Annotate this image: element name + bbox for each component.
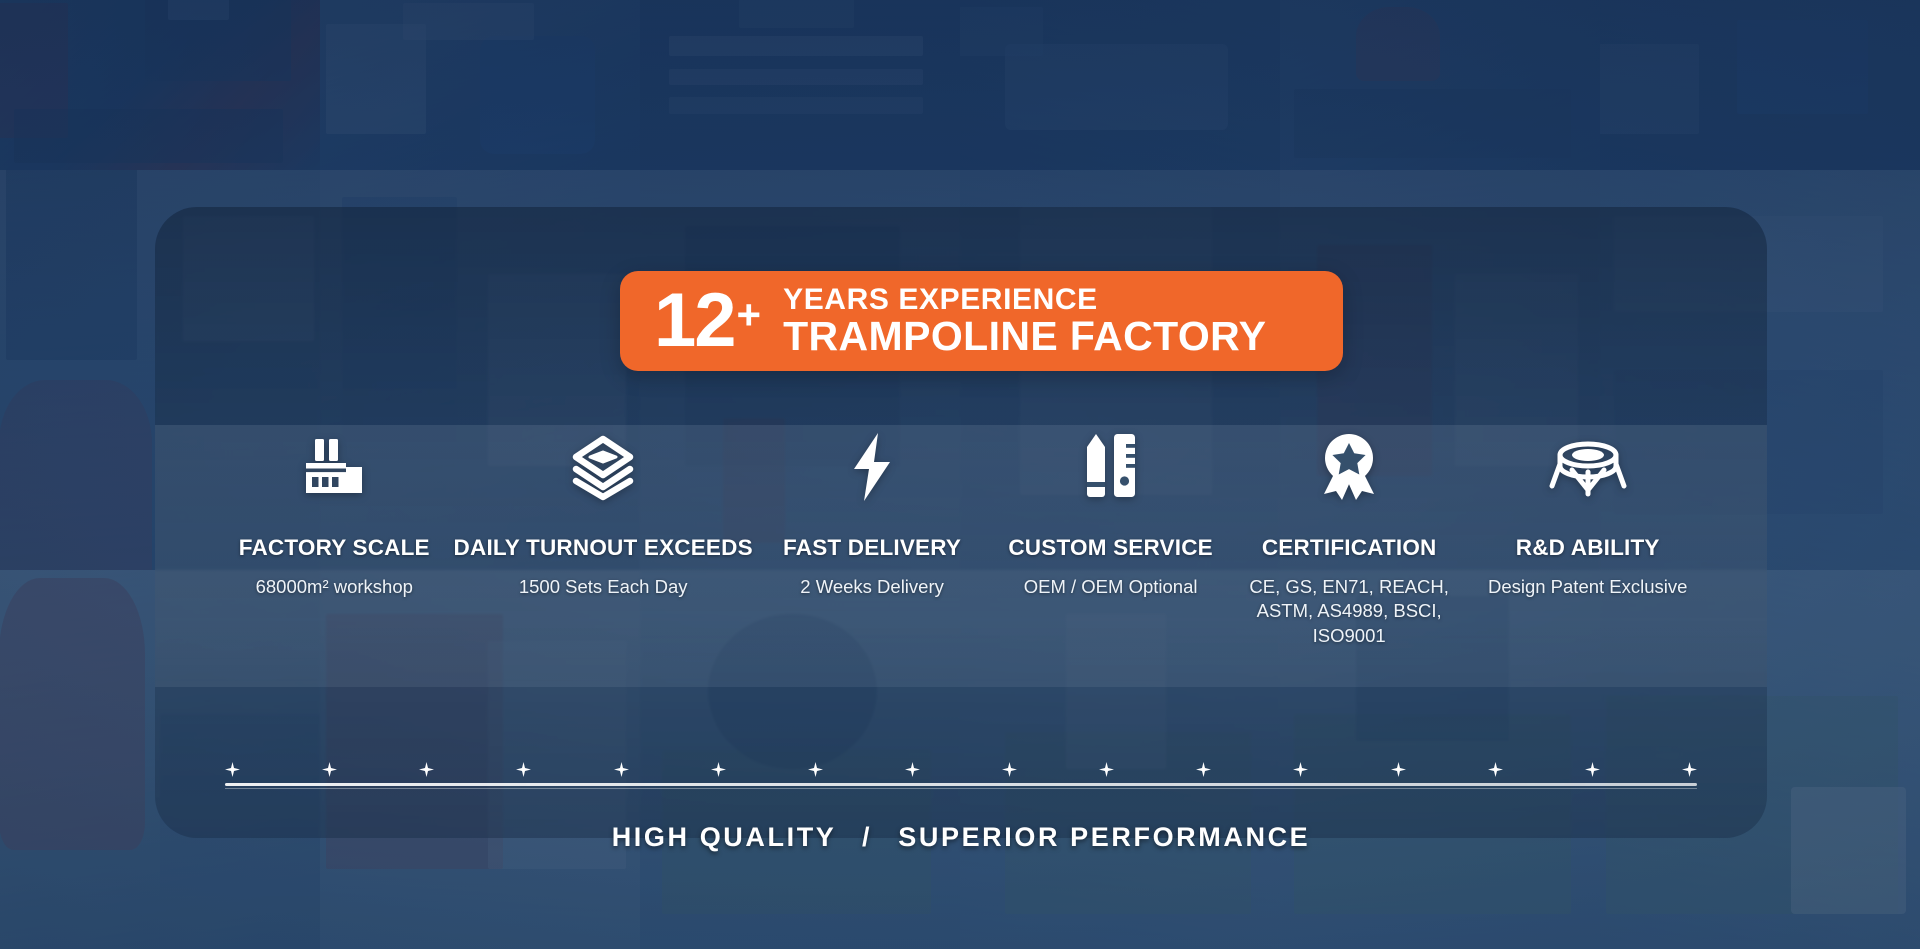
feature-item-certification: CERTIFICATION CE, GS, EN71, REACH, ASTM,…: [1230, 429, 1469, 648]
badge-text-group: YEARS EXPERIENCE TRAMPOLINE FACTORY: [783, 284, 1266, 359]
feature-title: CERTIFICATION: [1262, 535, 1437, 561]
four-point-star-icon: [614, 762, 629, 777]
feature-title: DAILY TURNOUT EXCEEDS: [454, 535, 753, 561]
feature-title: CUSTOM SERVICE: [1008, 535, 1213, 561]
tagline-right: SUPERIOR PERFORMANCE: [898, 822, 1310, 852]
four-point-star-icon: [322, 762, 337, 777]
badge-plus-sign: +: [737, 294, 760, 336]
feature-subtitle: CE, GS, EN71, REACH, ASTM, AS4989, BSCI,…: [1234, 575, 1464, 648]
divider-rule: [225, 783, 1697, 786]
tagline-separator: /: [862, 822, 872, 853]
sparkle-row: [225, 762, 1697, 783]
four-point-star-icon: [225, 762, 240, 777]
tagline-left: HIGH QUALITY: [612, 822, 836, 852]
lightning-icon: [848, 429, 896, 505]
feature-item-rd-ability: R&D ABILITY Design Patent Exclusive: [1468, 429, 1707, 648]
divider-rule-secondary: [225, 788, 1697, 789]
banner-stage: FACTORY SCALE 68000m² workshop DAILY TUR…: [0, 0, 1920, 949]
four-point-star-icon: [1293, 762, 1308, 777]
feature-title: FAST DELIVERY: [783, 535, 961, 561]
four-point-star-icon: [711, 762, 726, 777]
tagline: HIGH QUALITY / SUPERIOR PERFORMANCE: [155, 822, 1767, 853]
sparkle-divider: [225, 762, 1697, 789]
feature-list: FACTORY SCALE 68000m² workshop DAILY TUR…: [215, 429, 1707, 648]
four-point-star-icon: [1196, 762, 1211, 777]
layers-icon: [568, 429, 638, 505]
four-point-star-icon: [1585, 762, 1600, 777]
four-point-star-icon: [419, 762, 434, 777]
experience-badge: 12 + YEARS EXPERIENCE TRAMPOLINE FACTORY: [620, 271, 1343, 371]
four-point-star-icon: [1002, 762, 1017, 777]
feature-title: FACTORY SCALE: [239, 535, 430, 561]
four-point-star-icon: [516, 762, 531, 777]
award-medal-icon: [1316, 429, 1382, 505]
badge-number-group: 12 +: [654, 290, 759, 352]
four-point-star-icon: [1488, 762, 1503, 777]
four-point-star-icon: [808, 762, 823, 777]
feature-subtitle: OEM / OEM Optional: [1024, 575, 1198, 599]
four-point-star-icon: [1391, 762, 1406, 777]
feature-subtitle: Design Patent Exclusive: [1488, 575, 1688, 599]
four-point-star-icon: [905, 762, 920, 777]
feature-subtitle: 68000m² workshop: [256, 575, 413, 599]
feature-title: R&D ABILITY: [1516, 535, 1660, 561]
badge-line-2: TRAMPOLINE FACTORY: [783, 315, 1266, 358]
feature-subtitle: 1500 Sets Each Day: [519, 575, 688, 599]
feature-subtitle: 2 Weeks Delivery: [800, 575, 944, 599]
feature-item-custom-service: CUSTOM SERVICE OEM / OEM Optional: [991, 429, 1230, 648]
pencil-ruler-icon: [1083, 429, 1139, 505]
factory-icon: [302, 429, 366, 505]
feature-item-fast-delivery: FAST DELIVERY 2 Weeks Delivery: [753, 429, 992, 648]
badge-line-1: YEARS EXPERIENCE: [783, 284, 1266, 316]
feature-item-factory-scale: FACTORY SCALE 68000m² workshop: [215, 429, 454, 648]
feature-item-daily-turnout: DAILY TURNOUT EXCEEDS 1500 Sets Each Day: [454, 429, 753, 648]
four-point-star-icon: [1682, 762, 1697, 777]
trampoline-icon: [1546, 429, 1630, 505]
badge-number: 12: [654, 290, 735, 352]
four-point-star-icon: [1099, 762, 1114, 777]
